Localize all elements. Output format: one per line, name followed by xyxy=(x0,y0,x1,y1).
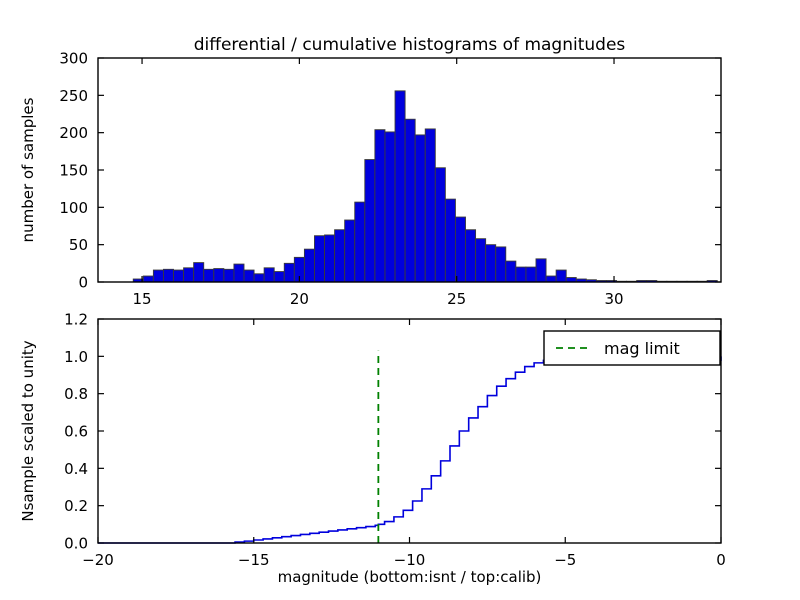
histogram-bar xyxy=(224,269,234,282)
histogram-bar xyxy=(234,264,244,282)
histogram-bar xyxy=(375,130,385,282)
legend[interactable]: mag limit xyxy=(544,331,720,365)
histogram-bar xyxy=(405,119,415,282)
bottom-x-tick-label: −10 xyxy=(394,551,426,569)
bottom-x-tick-label: −5 xyxy=(554,551,576,569)
histogram-bar xyxy=(526,267,536,282)
histogram-bar xyxy=(254,274,264,282)
histogram-bar xyxy=(143,276,153,282)
legend-mag-limit-label: mag limit xyxy=(604,339,680,358)
histogram-bar xyxy=(435,168,445,282)
bottom-y-tick-label: 0.4 xyxy=(64,460,88,478)
top-x-tick-label: 15 xyxy=(133,290,152,308)
top-y-tick-label: 300 xyxy=(59,50,88,68)
top-y-tick-label: 0 xyxy=(78,274,88,292)
top-y-tick-label: 250 xyxy=(59,87,88,105)
matplotlib-figure: 15202530 050100150200250300 differential… xyxy=(0,0,800,600)
bottom-y-tick-label: 1.2 xyxy=(64,311,88,329)
histogram-bar xyxy=(506,261,516,282)
histogram-bar xyxy=(163,269,173,282)
histogram-bar xyxy=(274,272,284,282)
histogram-bar xyxy=(204,269,214,282)
histogram-bar xyxy=(455,217,465,282)
histogram-bar xyxy=(325,235,335,282)
figure-canvas: 15202530 050100150200250300 differential… xyxy=(0,0,800,600)
histogram-bar xyxy=(304,249,314,282)
histogram-bar xyxy=(516,267,526,282)
histogram-bar xyxy=(466,230,476,282)
histogram-bar xyxy=(546,276,556,282)
top-y-tick-label: 100 xyxy=(59,199,88,217)
bottom-x-tick-label: −15 xyxy=(238,551,270,569)
bottom-y-tick-label: 0.2 xyxy=(64,497,88,515)
bottom-y-tick-label: 0.8 xyxy=(64,385,88,403)
histogram-bar xyxy=(244,270,254,282)
histogram-bar xyxy=(214,269,224,282)
histogram-bar xyxy=(345,220,355,282)
histogram-bar xyxy=(365,160,375,282)
histogram-bar xyxy=(174,270,184,282)
histogram-bar xyxy=(425,129,435,282)
histogram-bar xyxy=(486,245,496,282)
histogram-bar xyxy=(335,230,345,282)
bottom-x-tick-label: 0 xyxy=(716,551,726,569)
histogram-bar xyxy=(184,268,194,282)
top-y-tick-label: 200 xyxy=(59,124,88,142)
histogram-bar xyxy=(536,259,546,282)
histogram-bar xyxy=(194,263,204,282)
top-y-tick-label: 50 xyxy=(69,236,88,254)
top-y-axis-label: number of samples xyxy=(19,97,37,242)
bottom-axes: −20−15−10−50 0.00.20.40.60.81.01.2 Nsamp… xyxy=(19,311,726,587)
histogram-bar xyxy=(284,263,294,282)
bottom-x-tick-label: −20 xyxy=(82,551,114,569)
histogram-bar xyxy=(264,268,274,282)
histogram-bar xyxy=(476,239,486,282)
histogram-bar xyxy=(153,270,163,282)
histogram-bar xyxy=(355,202,365,282)
bottom-x-axis-label: magnitude (bottom:isnt / top:calib) xyxy=(278,568,542,586)
bottom-y-axis-label: Nsample scaled to unity xyxy=(19,340,37,521)
histogram-bar xyxy=(496,247,506,282)
bottom-y-tick-label: 0.6 xyxy=(64,423,88,441)
histogram-bar xyxy=(395,91,405,282)
top-x-tick-label: 20 xyxy=(290,290,309,308)
histogram-bar xyxy=(445,199,455,282)
histogram-bar xyxy=(415,135,425,282)
top-axes: 15202530 050100150200250300 differential… xyxy=(19,35,721,308)
chart-title: differential / cumulative histograms of … xyxy=(194,35,626,55)
top-x-tick-label: 30 xyxy=(604,290,623,308)
top-y-tick-label: 150 xyxy=(59,162,88,180)
bottom-y-tick-label: 0.0 xyxy=(64,535,88,553)
top-x-tick-label: 25 xyxy=(447,290,466,308)
histogram-bar xyxy=(385,132,395,282)
histogram-bar xyxy=(556,270,566,282)
bottom-y-tick-label: 1.0 xyxy=(64,348,88,366)
histogram-bar xyxy=(314,236,324,282)
